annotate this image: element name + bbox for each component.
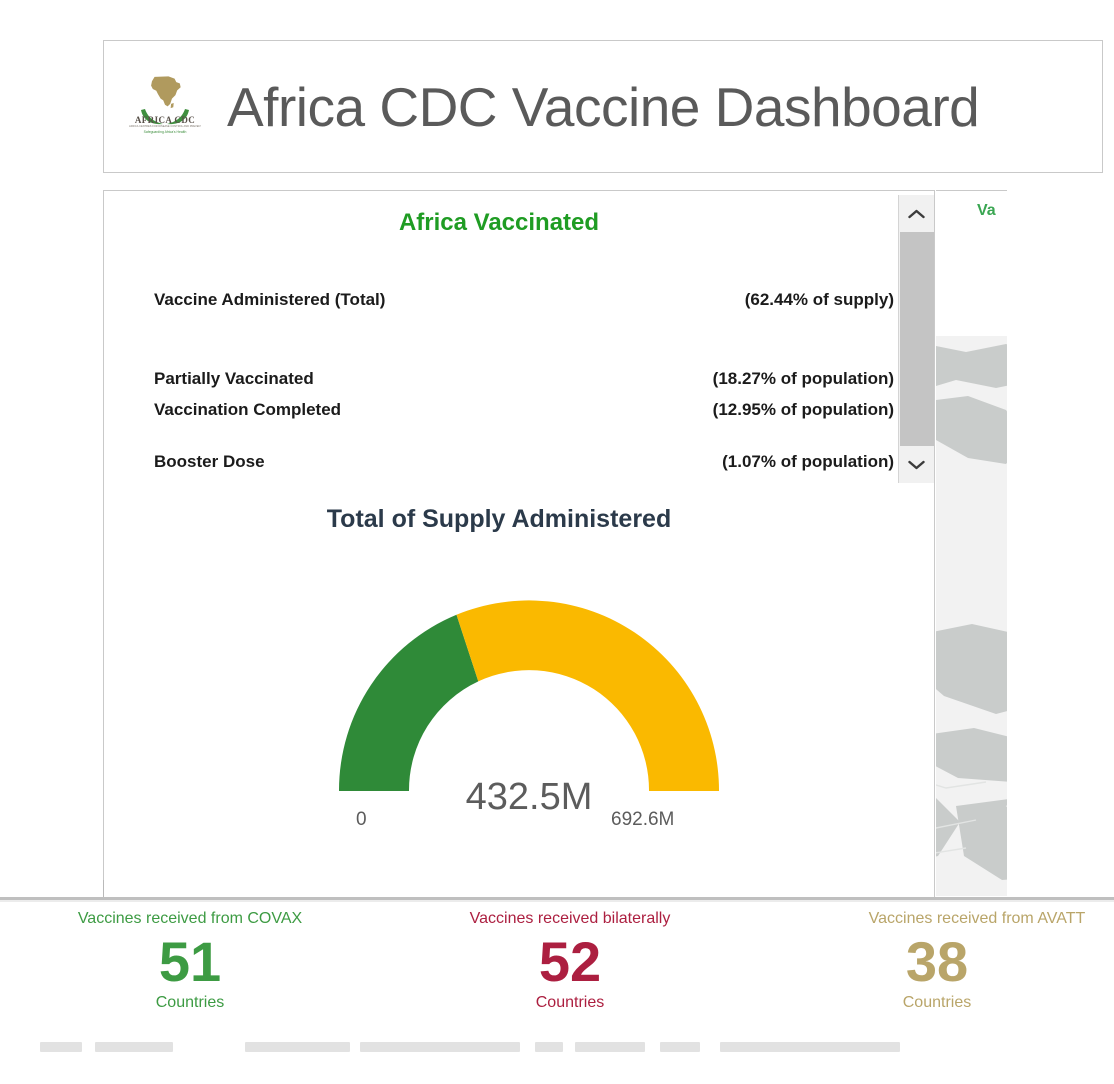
world-map-graphic bbox=[936, 336, 1007, 896]
gauge-arc bbox=[329, 591, 729, 806]
kpi-card-avatt[interactable]: Vaccines received from AVATT 38 Countrie… bbox=[760, 902, 1114, 1042]
kpi-card-covax[interactable]: Vaccines received from COVAX 51 Countrie… bbox=[0, 902, 380, 1042]
stat-value: (1.07% of population) bbox=[594, 452, 894, 472]
kpi-card-strip: Vaccines received from COVAX 51 Countrie… bbox=[0, 902, 1114, 1042]
panel-scrollbar[interactable] bbox=[898, 195, 934, 483]
stat-label: Partially Vaccinated bbox=[154, 369, 314, 389]
dashboard-header-panel: AFRICA CDC AFRICA CENTRES FOR DISEASE CO… bbox=[103, 40, 1103, 173]
stat-row: Vaccination Completed (12.95% of populat… bbox=[154, 400, 894, 420]
page-title: Africa CDC Vaccine Dashboard bbox=[227, 75, 979, 139]
supply-administered-gauge: 432.5M 0 692.6M bbox=[329, 591, 729, 841]
gauge-title: Total of Supply Administered bbox=[104, 505, 894, 534]
logo-wordmark: AFRICA CDC bbox=[129, 116, 201, 125]
gauge-segment-remaining bbox=[457, 600, 720, 791]
stat-value: (12.95% of population) bbox=[594, 400, 894, 420]
scrollbar-thumb[interactable] bbox=[900, 232, 934, 448]
map-panel-title: Va bbox=[977, 202, 996, 220]
kpi-unit: Countries bbox=[536, 994, 604, 1012]
kpi-unit: Countries bbox=[903, 994, 971, 1012]
gauge-min-label: 0 bbox=[356, 809, 367, 831]
stat-row: Vaccine Administered (Total) (62.44% of … bbox=[154, 290, 894, 310]
scroll-up-button[interactable] bbox=[899, 195, 934, 232]
kpi-number: 52 bbox=[539, 934, 601, 990]
africa-vaccinated-panel: Africa Vaccinated Vaccine Administered (… bbox=[103, 190, 935, 898]
scroll-down-button[interactable] bbox=[899, 446, 934, 483]
stat-value: (62.44% of supply) bbox=[594, 290, 894, 310]
kpi-title: Vaccines received from AVATT bbox=[869, 910, 1086, 928]
panel-edge-tick bbox=[103, 880, 104, 898]
stat-label: Vaccination Completed bbox=[154, 400, 341, 420]
kpi-title: Vaccines received from COVAX bbox=[78, 910, 302, 928]
stat-row: Booster Dose (1.07% of population) bbox=[154, 452, 894, 472]
below-fold-ghost-row bbox=[0, 1040, 1114, 1054]
stat-row: Partially Vaccinated (18.27% of populati… bbox=[154, 369, 894, 389]
stat-label: Booster Dose bbox=[154, 452, 265, 472]
africa-cdc-logo: AFRICA CDC AFRICA CENTRES FOR DISEASE CO… bbox=[129, 76, 201, 138]
kpi-card-bilateral[interactable]: Vaccines received bilaterally 52 Countri… bbox=[380, 902, 760, 1042]
kpi-title: Vaccines received bilaterally bbox=[470, 910, 671, 928]
chevron-up-icon bbox=[908, 209, 925, 219]
kpi-unit: Countries bbox=[156, 994, 224, 1012]
gauge-max-label: 692.6M bbox=[611, 809, 674, 831]
kpi-number: 51 bbox=[159, 934, 221, 990]
stat-label: Vaccine Administered (Total) bbox=[154, 290, 385, 310]
stat-value: (18.27% of population) bbox=[594, 369, 894, 389]
logo-tagline: Safeguarding Africa's Health bbox=[129, 130, 201, 134]
chevron-down-icon bbox=[908, 460, 925, 470]
panel-title: Africa Vaccinated bbox=[104, 209, 894, 237]
kpi-number: 38 bbox=[906, 934, 968, 990]
vaccination-map-panel: Va bbox=[936, 190, 1007, 898]
logo-subline: AFRICA CENTRES FOR DISEASE CONTROL AND P… bbox=[129, 125, 201, 128]
gauge-segment-administered bbox=[339, 615, 478, 791]
